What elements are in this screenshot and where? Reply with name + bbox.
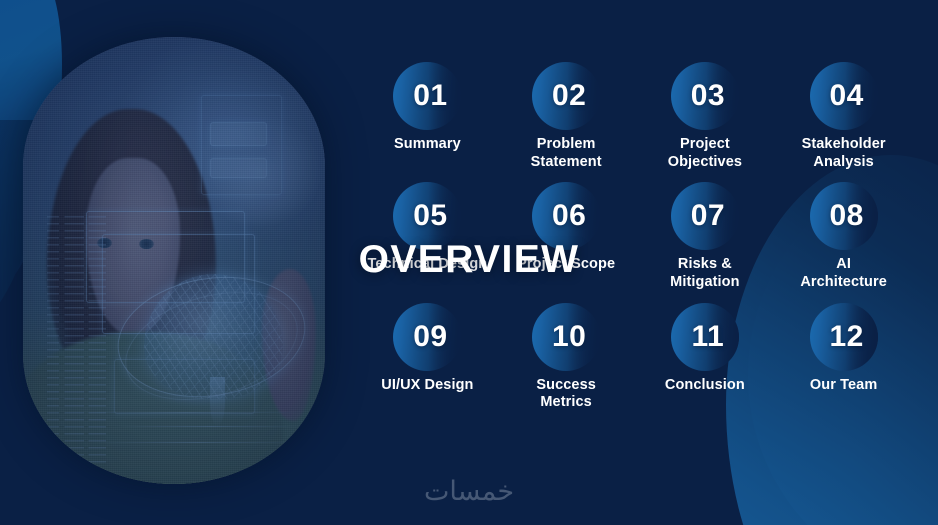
badge-number: 10	[552, 322, 586, 352]
agenda-label: Conclusion	[665, 377, 745, 395]
overview-slide: OVERVIEW 01 Summary 02 Problem Statement…	[0, 0, 938, 525]
badge-number: 04	[829, 81, 863, 111]
badge-number: 08	[829, 201, 863, 231]
badge-number: 11	[692, 322, 725, 352]
badge-number: 01	[413, 81, 447, 111]
number-badge-04: 04	[810, 62, 878, 130]
badge-number: 12	[829, 322, 863, 352]
agenda-label: Project Objectives	[668, 136, 742, 171]
agenda-item-12[interactable]: 12 Our Team	[774, 303, 913, 412]
badge-number: 03	[691, 81, 725, 111]
agenda-item-10[interactable]: 10 Success Metrics	[497, 303, 636, 412]
number-badge-11: 11	[671, 303, 739, 371]
badge-number: 05	[413, 201, 447, 231]
number-badge-09: 09	[393, 303, 461, 371]
agenda-label: Problem Statement	[531, 136, 602, 171]
khamsat-watermark: خمسات	[0, 474, 938, 513]
agenda-label: UI/UX Design	[381, 377, 473, 395]
number-badge-01: 01	[393, 62, 461, 130]
agenda-label: Stakeholder Analysis	[802, 136, 886, 171]
khamsat-watermark-icon: خمسات	[394, 474, 544, 508]
agenda-item-02[interactable]: 02 Problem Statement	[497, 62, 636, 171]
agenda-label: Our Team	[810, 377, 877, 395]
agenda-label: Success Metrics	[536, 377, 596, 412]
agenda-item-11[interactable]: 11 Conclusion	[636, 303, 775, 412]
agenda-item-01[interactable]: 01 Summary	[358, 62, 497, 171]
badge-number: 09	[413, 322, 447, 352]
page-title: OVERVIEW	[0, 238, 938, 282]
number-badge-02: 02	[532, 62, 600, 130]
agenda-item-03[interactable]: 03 Project Objectives	[636, 62, 775, 171]
number-badge-10: 10	[532, 303, 600, 371]
badge-number: 07	[691, 201, 725, 231]
badge-number: 06	[552, 201, 586, 231]
number-badge-03: 03	[671, 62, 739, 130]
agenda-item-09[interactable]: 09 UI/UX Design	[358, 303, 497, 412]
number-badge-12: 12	[810, 303, 878, 371]
badge-number: 02	[552, 81, 586, 111]
khamsat-watermark-text: خمسات	[424, 476, 514, 507]
agenda-label: Summary	[394, 136, 461, 154]
agenda-item-04[interactable]: 04 Stakeholder Analysis	[774, 62, 913, 171]
